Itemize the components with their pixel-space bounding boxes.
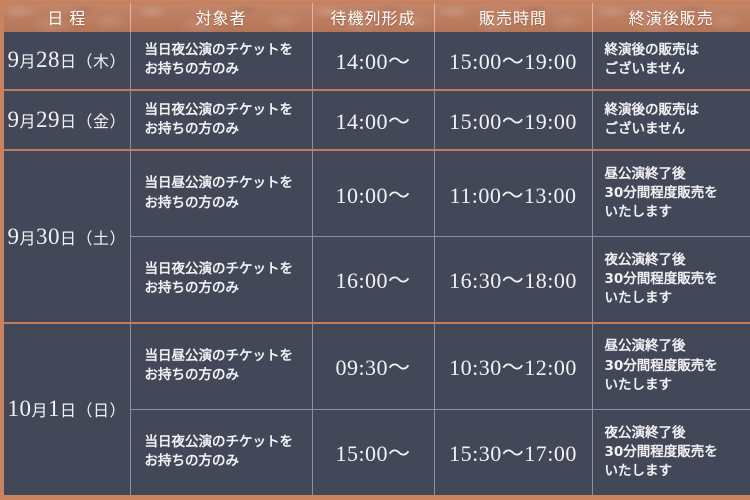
cell-date: 9月30日（土） [2, 150, 130, 322]
cell-queue-time: 15:00〜 [312, 409, 434, 497]
cell-queue-time: 16:00〜 [312, 237, 434, 323]
after-show-line-2: 30分間程度販売を [605, 357, 745, 376]
after-show-line-2: 30分間程度販売を [605, 184, 745, 203]
after-show-line-3: いたします [605, 289, 745, 308]
date-day-unit: 日 [60, 403, 77, 420]
after-show-line-1: 終演後の販売は [605, 41, 745, 60]
cell-audience: 当日夜公演のチケットをお持ちの方のみ [130, 32, 312, 91]
date-month-unit: 月 [19, 231, 36, 248]
date-weekday: （金） [77, 114, 127, 131]
after-show-line-3: いたします [605, 462, 745, 481]
table-header: 日 程 対象者 待機列形成 販売時間 終演後販売 [2, 2, 750, 32]
cell-audience: 当日夜公演のチケットをお持ちの方のみ [130, 409, 312, 497]
cell-sales-time: 10:30〜12:00 [434, 323, 592, 409]
cell-audience: 当日昼公演のチケットをお持ちの方のみ [130, 323, 312, 409]
table-header-row: 日 程 対象者 待機列形成 販売時間 終演後販売 [2, 2, 750, 32]
table-body: 9月28日（木）当日夜公演のチケットをお持ちの方のみ14:00〜15:00〜19… [2, 32, 750, 498]
after-show-line-1: 昼公演終了後 [605, 165, 745, 184]
date-weekday: （土） [77, 231, 127, 248]
date-weekday: （木） [77, 54, 127, 71]
cell-sales-time: 15:30〜17:00 [434, 409, 592, 497]
cell-queue-time: 14:00〜 [312, 32, 434, 91]
column-header-audience: 対象者 [130, 2, 312, 32]
after-show-line-1: 夜公演終了後 [605, 424, 745, 443]
column-header-sales-time: 販売時間 [434, 2, 592, 32]
after-show-line-1: 夜公演終了後 [605, 251, 745, 270]
column-header-after-show-sales: 終演後販売 [592, 2, 750, 32]
after-show-line-3: いたします [605, 203, 745, 222]
table-row: 9月30日（土）当日昼公演のチケットをお持ちの方のみ10:00〜11:00〜13… [2, 150, 750, 236]
audience-line-2: お持ちの方のみ [145, 279, 312, 299]
cell-sales-time: 16:30〜18:00 [434, 237, 592, 323]
after-show-line-3: いたします [605, 376, 745, 395]
audience-line-2: お持ちの方のみ [145, 452, 312, 472]
after-show-line-2: 30分間程度販売を [605, 443, 745, 462]
audience-line-1: 当日夜公演のチケットを [145, 41, 312, 61]
cell-queue-time: 14:00〜 [312, 90, 434, 150]
date-weekday: （日） [77, 403, 127, 420]
audience-line-1: 当日昼公演のチケットを [145, 347, 312, 367]
cell-after-show-sales: 終演後の販売はございません [592, 32, 750, 91]
column-header-date: 日 程 [2, 2, 130, 32]
date-day-number: 1 [48, 396, 60, 421]
audience-line-1: 当日昼公演のチケットを [145, 174, 312, 194]
cell-queue-time: 10:00〜 [312, 150, 434, 236]
date-month-number: 9 [7, 47, 19, 72]
audience-line-2: お持ちの方のみ [145, 194, 312, 214]
table-row: 9月28日（木）当日夜公演のチケットをお持ちの方のみ14:00〜15:00〜19… [2, 32, 750, 91]
after-show-line-1: 昼公演終了後 [605, 337, 745, 356]
date-day-unit: 日 [60, 114, 77, 131]
table-row: 9月29日（金）当日夜公演のチケットをお持ちの方のみ14:00〜15:00〜19… [2, 90, 750, 150]
date-month-number: 9 [7, 224, 19, 249]
date-month-unit: 月 [19, 54, 36, 71]
date-day-number: 28 [36, 47, 60, 72]
cell-after-show-sales: 夜公演終了後30分間程度販売をいたします [592, 237, 750, 323]
date-month-unit: 月 [31, 403, 48, 420]
cell-sales-time: 15:00〜19:00 [434, 90, 592, 150]
date-day-unit: 日 [60, 54, 77, 71]
table-row: 10月1日（日）当日昼公演のチケットをお持ちの方のみ09:30〜10:30〜12… [2, 323, 750, 409]
date-day-unit: 日 [60, 231, 77, 248]
after-show-line-2: ございません [605, 120, 745, 139]
after-show-line-2: ございません [605, 60, 745, 79]
cell-queue-time: 09:30〜 [312, 323, 434, 409]
audience-line-1: 当日夜公演のチケットを [145, 433, 312, 453]
cell-sales-time: 11:00〜13:00 [434, 150, 592, 236]
date-day-number: 29 [36, 107, 60, 132]
column-header-queue-formation: 待機列形成 [312, 2, 434, 32]
after-show-line-2: 30分間程度販売を [605, 270, 745, 289]
audience-line-2: お持ちの方のみ [145, 366, 312, 386]
audience-line-2: お持ちの方のみ [145, 120, 312, 140]
cell-audience: 当日夜公演のチケットをお持ちの方のみ [130, 237, 312, 323]
date-day-number: 30 [36, 224, 60, 249]
audience-line-2: お持ちの方のみ [145, 60, 312, 80]
after-show-line-1: 終演後の販売は [605, 101, 745, 120]
cell-date: 9月28日（木） [2, 32, 130, 91]
cell-date: 10月1日（日） [2, 323, 130, 498]
sales-schedule-table: 日 程 対象者 待機列形成 販売時間 終演後販売 9月28日（木）当日夜公演のチ… [0, 0, 750, 500]
date-month-number: 10 [7, 396, 31, 421]
date-month-unit: 月 [19, 114, 36, 131]
cell-date: 9月29日（金） [2, 90, 130, 150]
cell-sales-time: 15:00〜19:00 [434, 32, 592, 91]
date-month-number: 9 [7, 107, 19, 132]
audience-line-1: 当日夜公演のチケットを [145, 101, 312, 121]
audience-line-1: 当日夜公演のチケットを [145, 260, 312, 280]
cell-after-show-sales: 昼公演終了後30分間程度販売をいたします [592, 150, 750, 236]
cell-after-show-sales: 夜公演終了後30分間程度販売をいたします [592, 409, 750, 497]
cell-audience: 当日昼公演のチケットをお持ちの方のみ [130, 150, 312, 236]
cell-after-show-sales: 終演後の販売はございません [592, 90, 750, 150]
cell-audience: 当日夜公演のチケットをお持ちの方のみ [130, 90, 312, 150]
cell-after-show-sales: 昼公演終了後30分間程度販売をいたします [592, 323, 750, 409]
